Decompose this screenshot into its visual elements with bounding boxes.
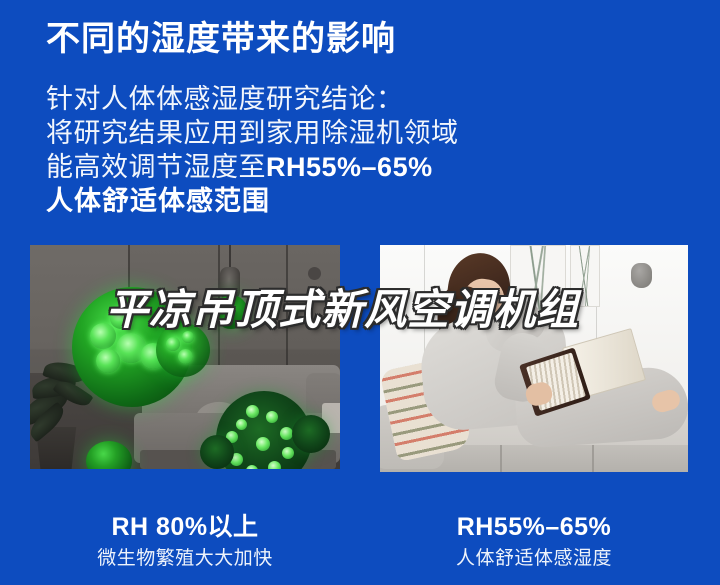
body-copy-block: 针对人体体感湿度研究结论： 将研究结果应用到家用除湿机领域 能高效调节湿度至RH… (46, 82, 666, 218)
wall-art-frame (570, 245, 600, 307)
virus-bump (236, 419, 247, 430)
germ-cell (178, 349, 193, 364)
photo-high-humidity (30, 245, 340, 469)
light-room-scene (380, 245, 688, 472)
virus-bump (282, 447, 294, 459)
virus-bump (256, 437, 270, 451)
wall-knob-icon (308, 267, 321, 280)
page-title: 不同的湿度带来的影响 (46, 17, 396, 61)
body-line-4: 人体舒适体感范围 (46, 184, 666, 218)
sofa-seam (592, 445, 594, 472)
caption-left-subtitle: 微生物繁殖大大加快 (30, 546, 340, 572)
photo-comfort-humidity (380, 245, 688, 472)
body-line-3: 能高效调节湿度至RH55%–65% (46, 150, 666, 184)
virus-bump (268, 461, 281, 469)
caption-left-title: RH 80%以上 (30, 512, 340, 542)
caption-comfort-humidity: RH55%–65% 人体舒适体感湿度 (380, 512, 688, 572)
sofa-seam (500, 445, 502, 472)
germ-sphere-pendant (214, 295, 248, 329)
body-line-1: 针对人体体感湿度研究结论： (46, 82, 666, 116)
body-line-3-prefix: 能高效调节湿度至 (46, 152, 266, 182)
body-line-2: 将研究结果应用到家用除湿机领域 (46, 116, 666, 150)
germ-cell (166, 337, 180, 351)
caption-right-title: RH55%–65% (380, 512, 688, 542)
wall-art-plant-print (571, 246, 599, 306)
caption-right-subtitle: 人体舒适体感湿度 (380, 546, 688, 572)
poster-canvas: 不同的湿度带来的影响 针对人体体感湿度研究结论： 将研究结果应用到家用除湿机领域… (0, 0, 720, 585)
virus-sphere-edge (200, 435, 234, 469)
virus-bump (266, 411, 278, 423)
germ-cell (110, 307, 132, 329)
virus-bump (246, 405, 259, 418)
body-line-3-highlight: RH55%–65% (266, 152, 433, 182)
wall-seam (286, 245, 288, 373)
virus-sphere-edge (292, 415, 330, 453)
germ-cell (182, 331, 194, 343)
dark-room-scene (30, 245, 340, 469)
caption-high-humidity: RH 80%以上 微生物繁殖大大加快 (30, 512, 340, 572)
germ-cell (90, 323, 116, 349)
wall-hook-icon (631, 263, 652, 288)
germ-cell (96, 349, 120, 373)
